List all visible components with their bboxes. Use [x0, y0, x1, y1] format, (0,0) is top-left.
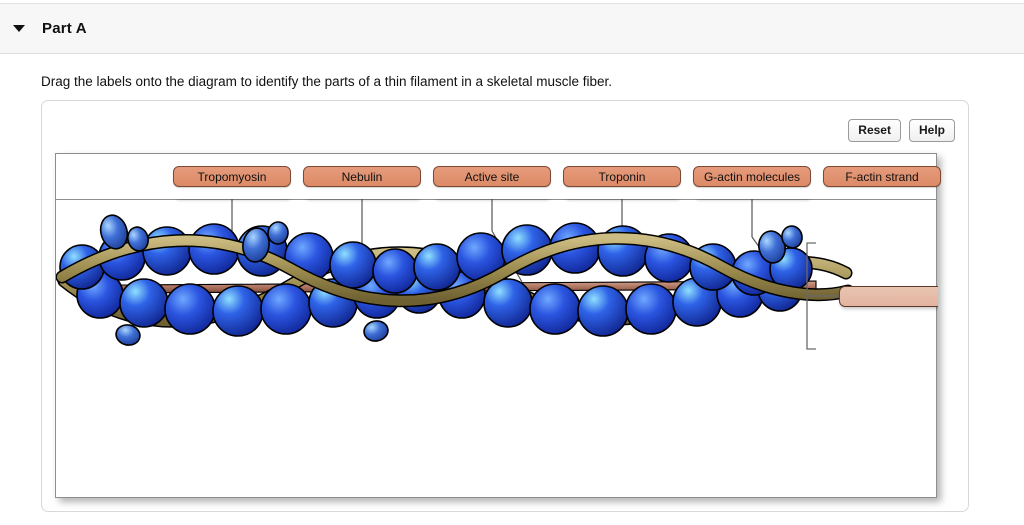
- drop-target-6[interactable]: [839, 286, 938, 307]
- draggable-label-active-site[interactable]: Active site: [433, 166, 551, 187]
- activity-toolbar: Reset Help: [848, 119, 955, 142]
- part-header: Part A: [0, 4, 1024, 54]
- reset-button[interactable]: Reset: [848, 119, 901, 142]
- chevron-down-icon[interactable]: [13, 25, 25, 32]
- draggable-label-g-actin-molecules[interactable]: G-actin molecules: [693, 166, 811, 187]
- draggable-label-troponin[interactable]: Troponin: [563, 166, 681, 187]
- draggable-label-f-actin-strand[interactable]: F-actin strand: [823, 166, 941, 187]
- diagram-canvas: [56, 199, 938, 498]
- thin-filament-illustration: [56, 199, 938, 498]
- draggable-label-tropomyosin[interactable]: Tropomyosin: [173, 166, 291, 187]
- drag-drop-area: Tropomyosin Nebulin Active site Troponin…: [55, 153, 937, 498]
- activity-panel: Reset Help Tropomyosin Nebulin Active si…: [41, 100, 969, 512]
- help-button[interactable]: Help: [909, 119, 955, 142]
- page-title: Part A: [42, 20, 87, 37]
- label-bank: Tropomyosin Nebulin Active site Troponin…: [56, 154, 936, 199]
- draggable-label-nebulin[interactable]: Nebulin: [303, 166, 421, 187]
- instruction-text: Drag the labels onto the diagram to iden…: [41, 74, 612, 89]
